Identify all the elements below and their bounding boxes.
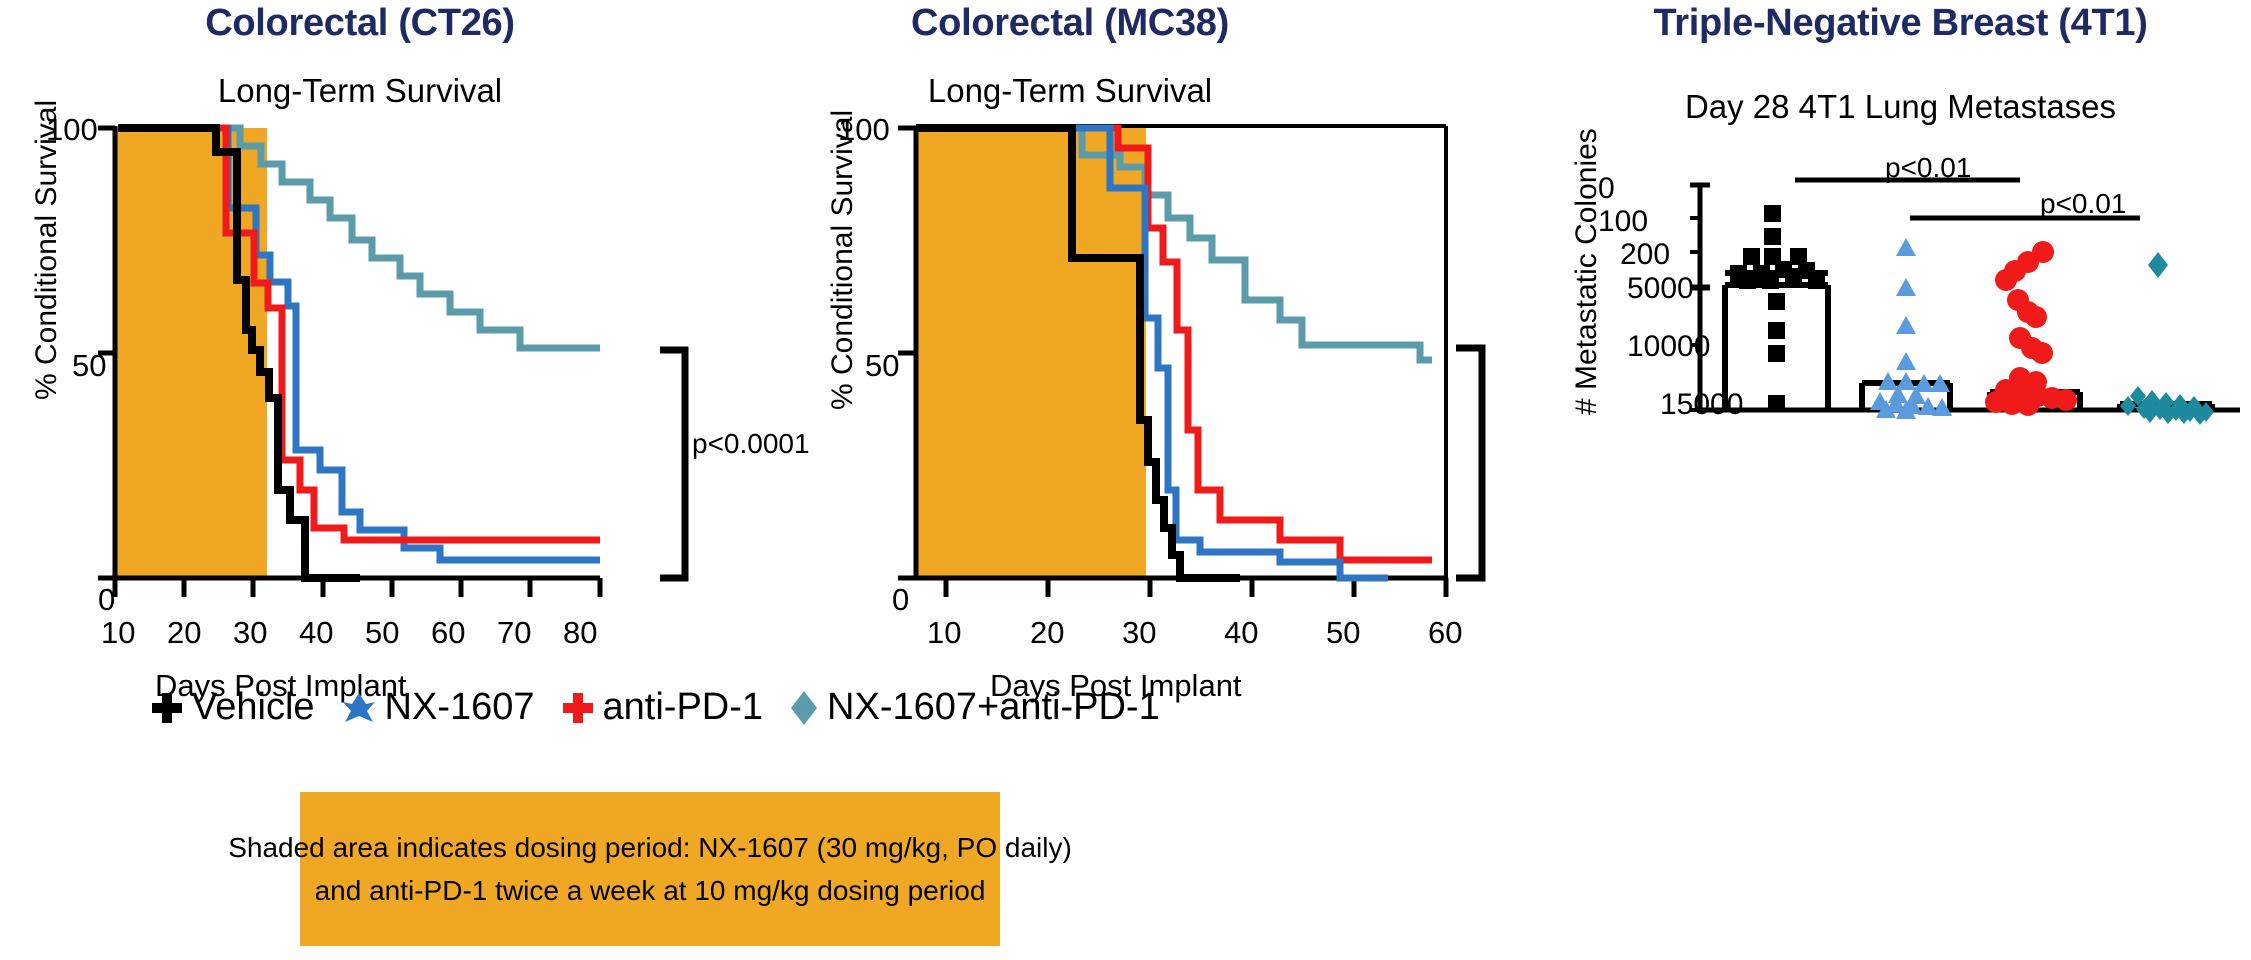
diamond-marker-icon xyxy=(789,690,819,726)
legend-label-nx1607: NX-1607 xyxy=(385,686,535,729)
scatter-plot-4t1 xyxy=(1550,0,2251,500)
dosing-shade-mc38 xyxy=(916,128,1146,578)
circle-marker-icon xyxy=(561,691,595,725)
km-plot-ct26 xyxy=(0,0,720,660)
dosing-shade-ct26 xyxy=(115,128,267,578)
points-vehicle-4t1 xyxy=(1730,205,1825,412)
km-plot-mc38 xyxy=(720,0,1550,660)
points-nx1607-4t1 xyxy=(1870,238,1952,419)
pvalue-bracket-mc38 xyxy=(1456,348,1482,578)
legend-label-combo: NX-1607+anti-PD-1 xyxy=(827,686,1160,729)
legend-item-combo: NX-1607+anti-PD-1 xyxy=(789,686,1160,729)
points-combo-4t1 xyxy=(2120,252,2214,425)
legend: Vehicle NX-1607 anti-PD-1 NX-1607+anti-P… xyxy=(150,686,1186,729)
legend-label-vehicle: Vehicle xyxy=(192,686,315,729)
pvalue-bracket-ct26 xyxy=(660,350,685,578)
dosing-caption-box: Shaded area indicates dosing period: NX-… xyxy=(300,792,1000,946)
panel-4t1: Triple-Negative Breast (4T1) Day 28 4T1 … xyxy=(1550,0,2251,660)
points-antipd1-4t1 xyxy=(1985,241,2077,416)
plus-marker-icon xyxy=(150,691,184,725)
legend-item-antipd1: anti-PD-1 xyxy=(561,686,764,729)
caption-line-1: Shaded area indicates dosing period: NX-… xyxy=(228,826,1072,869)
panel-ct26: Colorectal (CT26) Long-Term Survival % C… xyxy=(0,0,720,660)
panel-mc38: Colorectal (MC38) Long-Term Survival % C… xyxy=(720,0,1550,660)
legend-item-nx1607: NX-1607 xyxy=(341,686,535,729)
legend-item-vehicle: Vehicle xyxy=(150,686,315,729)
caption-line-2: and anti-PD-1 twice a week at 10 mg/kg d… xyxy=(315,869,986,912)
triangle-marker-icon xyxy=(341,691,377,725)
legend-label-antipd1: anti-PD-1 xyxy=(603,686,764,729)
